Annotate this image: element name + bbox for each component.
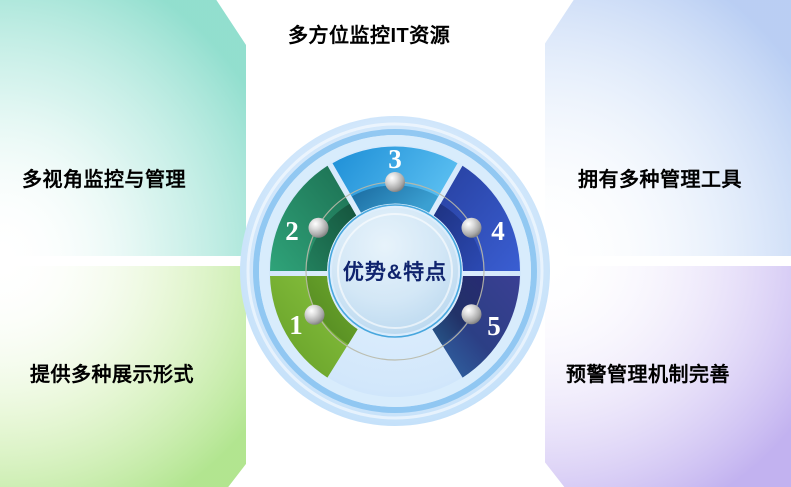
label-right-upper: 拥有多种管理工具 <box>578 170 742 190</box>
center-hub-label: 优势&特点 <box>343 260 447 284</box>
infographic-canvas: 3 2 1 4 5 <box>0 0 791 487</box>
segment-2-number: 2 <box>285 216 299 246</box>
ball-2-icon[interactable] <box>309 218 329 238</box>
ball-1-icon[interactable] <box>305 305 325 325</box>
segment-1-number: 1 <box>289 310 303 340</box>
radial-diagram: 3 2 1 4 5 <box>0 0 791 487</box>
corner-zone-top-right <box>545 0 791 258</box>
ball-3-icon[interactable] <box>385 172 405 192</box>
label-left-upper: 多视角监控与管理 <box>22 170 186 190</box>
segment-5-number: 5 <box>487 311 501 341</box>
ball-4-icon[interactable] <box>462 218 482 238</box>
ball-5-icon[interactable] <box>462 304 482 324</box>
segment-4-number: 4 <box>491 216 505 246</box>
corner-zone-top-left <box>0 0 246 258</box>
label-right-lower: 预警管理机制完善 <box>566 365 730 385</box>
label-left-lower: 提供多种展示形式 <box>30 365 194 385</box>
label-top: 多方位监控IT资源 <box>288 26 450 46</box>
segment-3-number: 3 <box>388 144 402 174</box>
